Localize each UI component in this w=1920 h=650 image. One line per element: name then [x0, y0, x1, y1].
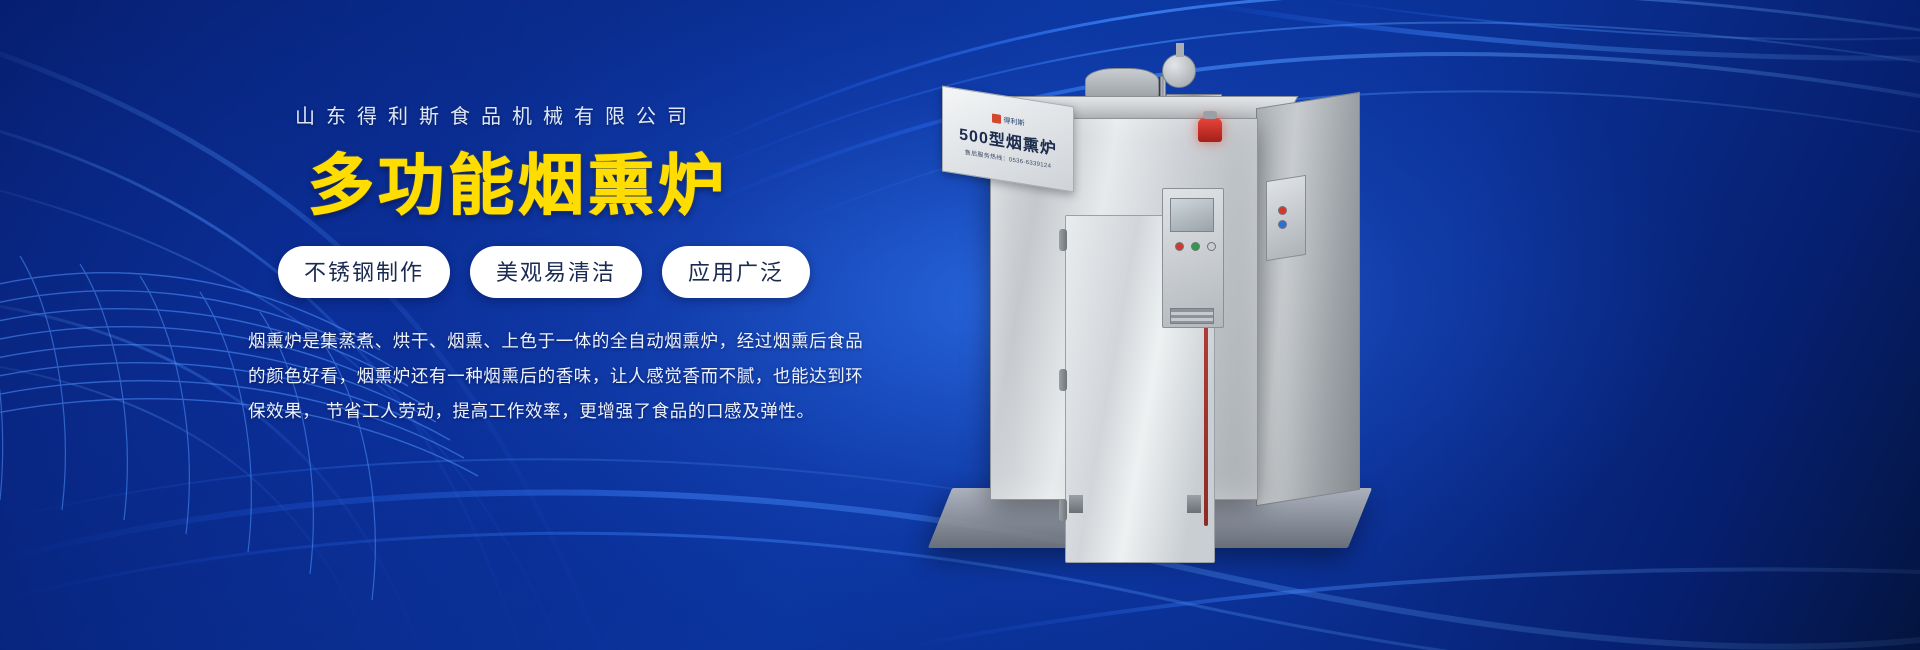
- description-line-3: 保效果， 节省工人劳动，提高工作效率，更增强了食品的口感及弹性。: [248, 394, 808, 429]
- feature-pill-list: 不锈钢制作 美观易清洁 应用广泛: [248, 246, 848, 298]
- company-name: 山东得利斯食品机械有限公司: [248, 100, 848, 129]
- description-line-2: 的颜色好看，烟熏炉还有一种烟熏后的香味，让人感觉香而不腻，也能达到环: [248, 359, 808, 394]
- product-description: 烟熏炉是集蒸煮、烘干、烟熏、上色于一体的全自动烟熏炉，经过烟熏后食品 的颜色好看…: [248, 324, 808, 429]
- hero-text-block: 山东得利斯食品机械有限公司 多功能烟熏炉 不锈钢制作 美观易清洁 应用广泛 烟熏…: [248, 100, 848, 429]
- brand-logo-text: 得利斯: [1004, 115, 1025, 128]
- machine-leg-left: [1069, 495, 1083, 513]
- product-image-smokehouse-oven: 得利斯 500型烟熏炉 售后服务热线：0536-6339124: [930, 40, 1400, 560]
- feature-pill-wide-use[interactable]: 应用广泛: [662, 246, 810, 298]
- machine-button-green[interactable]: [1191, 242, 1200, 251]
- machine-alarm-lamp: [1198, 118, 1222, 142]
- product-hero-banner: 山东得利斯食品机械有限公司 多功能烟熏炉 不锈钢制作 美观易清洁 应用广泛 烟熏…: [0, 0, 1920, 650]
- feature-pill-easy-clean[interactable]: 美观易清洁: [470, 246, 642, 298]
- machine-side-indicator-red: [1278, 206, 1287, 215]
- brand-logo-mark: [992, 113, 1001, 123]
- machine-leg-right: [1187, 495, 1201, 513]
- machine-hinge-top: [1059, 229, 1067, 251]
- machine-button-grey[interactable]: [1207, 242, 1216, 251]
- machine-hinge-mid: [1059, 369, 1067, 391]
- description-line-1: 烟熏炉是集蒸煮、烘干、烟熏、上色于一体的全自动烟熏炉，经过烟熏后食品: [248, 324, 808, 359]
- machine-vent-strip: [1170, 308, 1214, 324]
- machine-side-indicator-blue: [1278, 220, 1287, 229]
- machine-control-display: [1170, 198, 1214, 232]
- machine-side-junction-box: [1266, 175, 1306, 261]
- machine-button-red[interactable]: [1175, 242, 1184, 251]
- machine-side-panel: [1256, 92, 1360, 506]
- page-title: 多功能烟熏炉: [248, 151, 848, 220]
- machine-valve: [1162, 54, 1196, 88]
- feature-pill-stainless[interactable]: 不锈钢制作: [278, 246, 450, 298]
- machine-hinge-bottom: [1059, 499, 1067, 521]
